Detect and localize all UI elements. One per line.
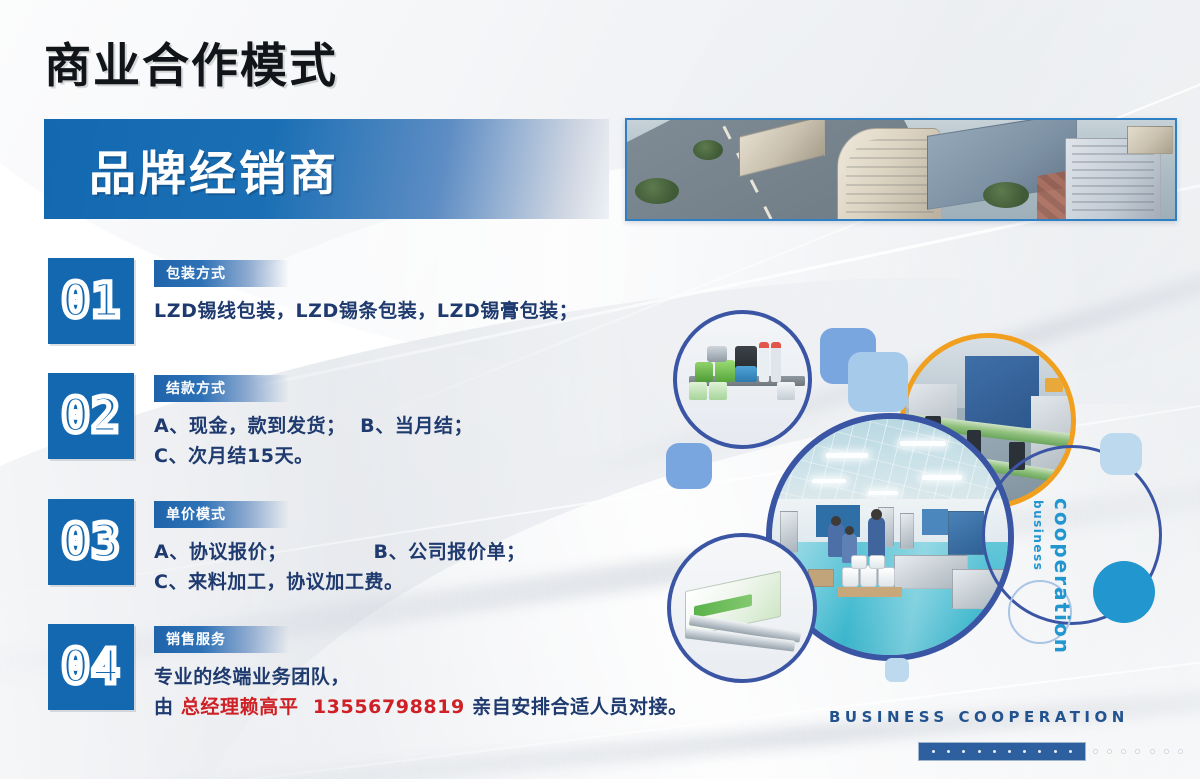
item-tag: 结款方式 [154, 375, 289, 402]
item-lines: A、协议报价； B、公司报价单； C、来料加工，协议加工费。 [154, 537, 668, 597]
workshop-lamp [922, 475, 962, 480]
workshop-bucket [851, 555, 867, 569]
item-number-text: 03 [61, 514, 121, 570]
product-tube [771, 342, 781, 382]
item-line: A、现金，款到发货； B、当月结； [154, 411, 668, 441]
contact-prefix: 由 [154, 696, 181, 718]
product-jar [689, 382, 707, 400]
workshop-blue-panel [922, 509, 948, 535]
machine-indicator [1045, 378, 1063, 392]
item-body: 包装方式 LZD锡线包装，LZD锡条包装，LZD锡膏包装； [134, 258, 668, 326]
item-number-badge: 03 [48, 499, 134, 585]
decor-square-3 [666, 443, 712, 489]
dot [1023, 750, 1026, 753]
workshop-lamp [812, 479, 846, 483]
vertical-text-cooperation: cooperation [1050, 498, 1074, 655]
workshop-bucket [869, 555, 885, 569]
photo-green-1 [635, 178, 679, 204]
item-tag: 销售服务 [154, 626, 289, 653]
workshop-person-head [831, 516, 841, 526]
product-can [715, 360, 735, 382]
dot [1151, 750, 1154, 753]
workshop-person-head [871, 509, 882, 520]
cooperation-items-list: 01 包装方式 LZD锡线包装，LZD锡条包装，LZD锡膏包装； 02 结款方式… [48, 258, 668, 722]
photo-green-2 [693, 140, 723, 160]
workshop-pallet [838, 587, 902, 597]
contact-highlight: 总经理赖高平 13556798819 [181, 696, 465, 718]
contact-suffix: 亲自安排合适人员对接。 [465, 696, 688, 718]
product-can [695, 362, 713, 382]
item-lines: LZD锡线包装，LZD锡条包装，LZD锡膏包装； [154, 296, 668, 326]
solder-bar-box-photo-circle [667, 533, 817, 683]
item-line: A、协议报价； B、公司报价单； [154, 537, 668, 567]
item-body: 单价模式 A、协议报价； B、公司报价单； C、来料加工，协议加工费。 [134, 499, 668, 597]
item-number-text: 04 [61, 639, 121, 695]
decor-square-4 [1100, 433, 1142, 475]
dot [993, 750, 996, 753]
photo-green-3 [983, 182, 1029, 208]
item-body: 结款方式 A、现金，款到发货； B、当月结； C、次月结15天。 [134, 373, 668, 471]
aerial-campus-photo [625, 118, 1177, 221]
workshop-lamp [868, 491, 898, 495]
item-tag: 单价模式 [154, 501, 289, 528]
decor-circle-solid [1093, 561, 1155, 623]
brand-banner: 品牌经销商 [44, 119, 609, 219]
product-jar [709, 382, 727, 400]
item-line: C、来料加工，协议加工费。 [154, 567, 668, 597]
page-title: 商业合作模式 [44, 27, 338, 96]
dot [1054, 750, 1057, 753]
item-lines: A、现金，款到发货； B、当月结； C、次月结15天。 [154, 411, 668, 471]
footer-dot-bar [918, 742, 1086, 761]
dot [1165, 750, 1168, 753]
dot [962, 750, 965, 753]
item-body: 销售服务 专业的终端业务团队， 由 总经理赖高平 13556798819 亲自安… [134, 624, 688, 722]
item-lines: 专业的终端业务团队， 由 总经理赖高平 13556798819 亲自安排合适人员… [154, 662, 688, 722]
item-tag: 包装方式 [154, 260, 289, 287]
item-line: C、次月结15天。 [154, 441, 668, 471]
footer-dot-row [1094, 742, 1182, 761]
poster-canvas: 商业合作模式 品牌经销商 01 包装方式 LZD锡线包装，LZD锡条包装，LZD… [0, 0, 1200, 779]
dot [1094, 750, 1097, 753]
footer-english-text: BUSINESS COOPERATION [829, 708, 1129, 726]
dot [1108, 750, 1111, 753]
item-number-badge: 01 [48, 258, 134, 344]
list-item: 03 单价模式 A、协议报价； B、公司报价单； C、来料加工，协议加工费。 [48, 499, 668, 597]
photo-tower [837, 128, 941, 220]
workshop-machine [948, 511, 984, 555]
product-can [735, 366, 757, 382]
list-item: 01 包装方式 LZD锡线包装，LZD锡条包装，LZD锡膏包装； [48, 258, 668, 344]
item-number-badge: 02 [48, 373, 134, 459]
dot [1008, 750, 1011, 753]
machine-cabinet [965, 356, 1039, 428]
dot [1179, 750, 1182, 753]
decor-square-5 [885, 658, 909, 682]
item-number-text: 02 [61, 388, 121, 444]
workshop-ceiling-grid [772, 419, 1008, 509]
photo-building-3 [1127, 126, 1173, 154]
workshop-person [868, 517, 885, 557]
workshop-bucket [878, 567, 895, 587]
item-number-text: 01 [61, 273, 121, 329]
dot [1069, 750, 1072, 753]
item-line: LZD锡线包装，LZD锡条包装，LZD锡膏包装； [154, 296, 668, 326]
vertical-text-business: business [1031, 500, 1045, 571]
dot [1136, 750, 1139, 753]
item-number-badge: 04 [48, 624, 134, 710]
dot [978, 750, 981, 753]
product-jar [777, 382, 795, 400]
workshop-person-head [845, 526, 854, 535]
list-item: 04 销售服务 专业的终端业务团队， 由 总经理赖高平 13556798819 … [48, 624, 668, 722]
brand-banner-text: 品牌经销商 [89, 135, 339, 204]
decor-square-2 [848, 352, 908, 412]
workshop-bucket [842, 567, 859, 587]
item-line: 专业的终端业务团队， [154, 662, 688, 692]
workshop-lamp [826, 453, 868, 458]
product-tube [759, 342, 769, 382]
workshop-lamp [900, 441, 946, 446]
product-can [707, 346, 727, 362]
list-item: 02 结款方式 A、现金，款到发货； B、当月结； C、次月结15天。 [48, 373, 668, 471]
dot [932, 750, 935, 753]
dot [947, 750, 950, 753]
workshop-machine [900, 513, 914, 549]
dot [1122, 750, 1125, 753]
item-line-contact: 由 总经理赖高平 13556798819 亲自安排合适人员对接。 [154, 692, 688, 722]
dot [1038, 750, 1041, 753]
